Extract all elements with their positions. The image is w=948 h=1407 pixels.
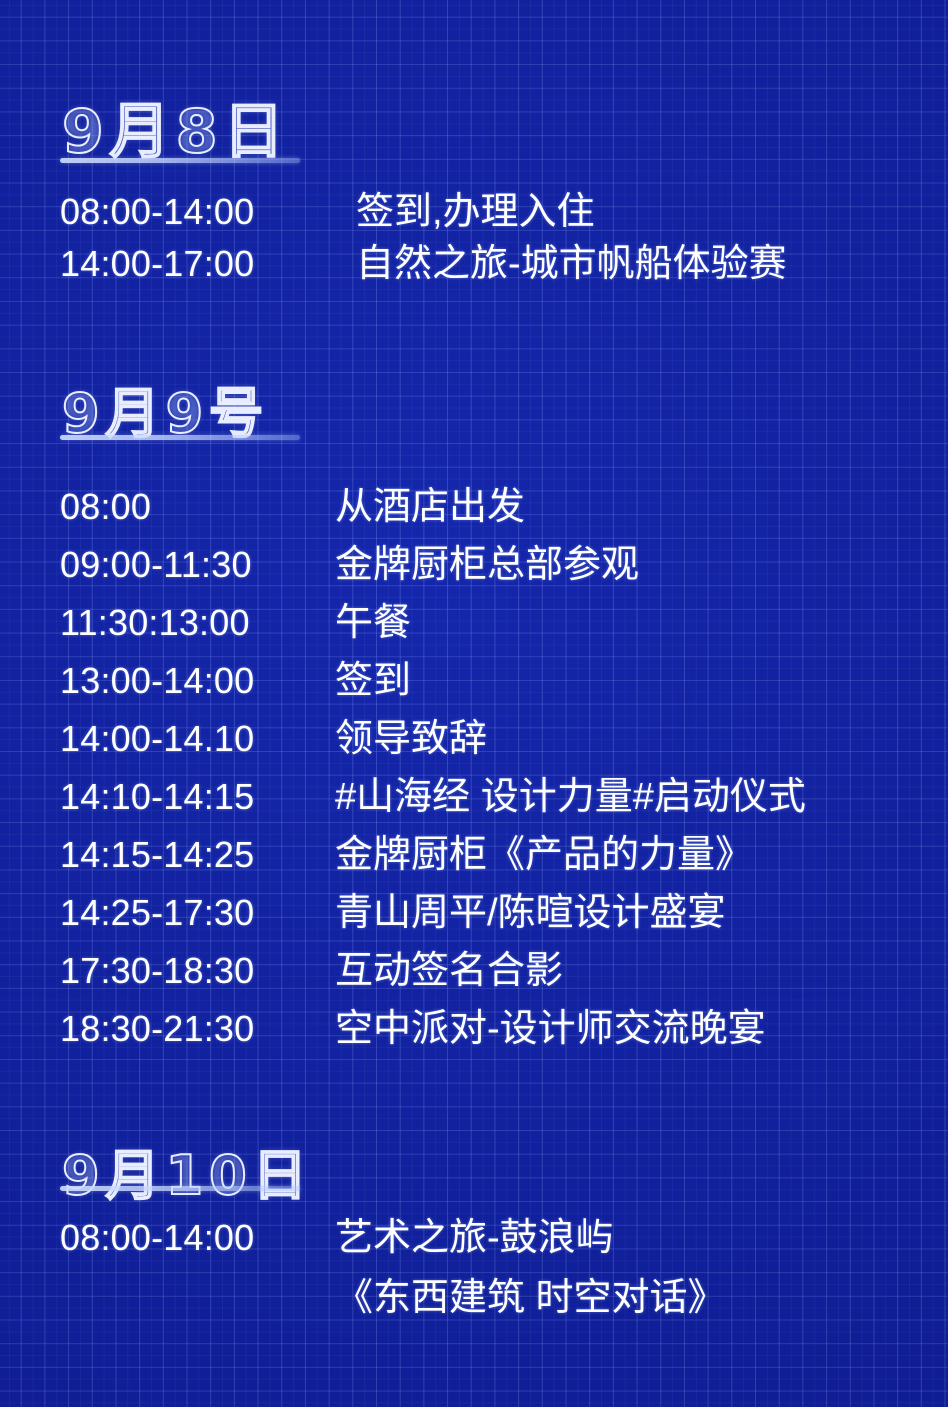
row-description: 金牌厨柜总部参观 bbox=[335, 536, 639, 594]
row-time: 17:30-18:30 bbox=[60, 942, 335, 1000]
day-heading-sept-8: 9月8日 bbox=[62, 102, 290, 162]
row-time: 11:30:13:00 bbox=[60, 594, 335, 652]
row-description: 青山周平/陈暄设计盛宴 bbox=[335, 884, 726, 942]
schedule-row: 08:00-14:00 艺术之旅-鼓浪屿 《东西建筑 时空对话》 bbox=[60, 1208, 726, 1328]
day-heading-sept-10: 9月10日 bbox=[62, 1149, 313, 1203]
day-heading-sept-9: 9月9号 bbox=[62, 387, 269, 441]
row-time: 08:00-14:00 bbox=[60, 186, 356, 238]
row-description: 午餐 bbox=[335, 594, 411, 652]
schedule-row: 08:00 从酒店出发 bbox=[60, 478, 806, 536]
day-divider-sept-10 bbox=[60, 1186, 300, 1191]
schedule-rows-sept-9: 08:00 从酒店出发 09:00-11:30 金牌厨柜总部参观 11:30:1… bbox=[60, 478, 806, 1058]
row-time: 14:25-17:30 bbox=[60, 884, 335, 942]
schedule-rows-sept-8: 08:00-14:00 签到,办理入住 14:00-17:00 自然之旅-城市帆… bbox=[60, 186, 787, 290]
row-description: 从酒店出发 bbox=[335, 478, 525, 536]
row-description: 互动签名合影 bbox=[335, 942, 563, 1000]
row-time: 14:10-14:15 bbox=[60, 768, 335, 826]
schedule-row: 09:00-11:30 金牌厨柜总部参观 bbox=[60, 536, 806, 594]
schedule-row: 14:00-17:00 自然之旅-城市帆船体验赛 bbox=[60, 238, 787, 290]
row-time: 14:15-14:25 bbox=[60, 826, 335, 884]
schedule-row: 08:00-14:00 签到,办理入住 bbox=[60, 186, 787, 238]
schedule-row: 14:15-14:25 金牌厨柜《产品的力量》 bbox=[60, 826, 806, 884]
row-time: 18:30-21:30 bbox=[60, 1000, 335, 1058]
row-time: 08:00 bbox=[60, 478, 335, 536]
schedule-poster: 9月8日 08:00-14:00 签到,办理入住 14:00-17:00 自然之… bbox=[0, 0, 948, 1407]
schedule-row: 14:25-17:30 青山周平/陈暄设计盛宴 bbox=[60, 884, 806, 942]
schedule-row: 17:30-18:30 互动签名合影 bbox=[60, 942, 806, 1000]
row-time: 14:00-14.10 bbox=[60, 710, 335, 768]
day-divider-sept-8 bbox=[60, 158, 300, 163]
day-divider-sept-9 bbox=[60, 435, 300, 440]
schedule-rows-sept-10: 08:00-14:00 艺术之旅-鼓浪屿 《东西建筑 时空对话》 bbox=[60, 1208, 726, 1328]
row-time: 14:00-17:00 bbox=[60, 238, 356, 290]
schedule-row: 14:10-14:15 #山海经 设计力量#启动仪式 bbox=[60, 768, 806, 826]
row-time: 09:00-11:30 bbox=[60, 536, 335, 594]
row-description: 金牌厨柜《产品的力量》 bbox=[335, 826, 753, 884]
row-time: 13:00-14:00 bbox=[60, 652, 335, 710]
row-description: 领导致辞 bbox=[335, 710, 487, 768]
row-description-line2: 《东西建筑 时空对话》 bbox=[335, 1268, 726, 1328]
row-time: 08:00-14:00 bbox=[60, 1208, 335, 1268]
row-description: 艺术之旅-鼓浪屿 bbox=[335, 1208, 726, 1268]
row-description: 签到,办理入住 bbox=[356, 186, 595, 238]
schedule-row: 14:00-14.10 领导致辞 bbox=[60, 710, 806, 768]
row-description: 自然之旅-城市帆船体验赛 bbox=[356, 238, 787, 290]
row-description: 签到 bbox=[335, 652, 411, 710]
schedule-row: 13:00-14:00 签到 bbox=[60, 652, 806, 710]
row-description: #山海经 设计力量#启动仪式 bbox=[335, 768, 806, 826]
schedule-row: 18:30-21:30 空中派对-设计师交流晚宴 bbox=[60, 1000, 806, 1058]
row-description: 空中派对-设计师交流晚宴 bbox=[335, 1000, 766, 1058]
row-description-group: 艺术之旅-鼓浪屿 《东西建筑 时空对话》 bbox=[335, 1208, 726, 1328]
schedule-row: 11:30:13:00 午餐 bbox=[60, 594, 806, 652]
